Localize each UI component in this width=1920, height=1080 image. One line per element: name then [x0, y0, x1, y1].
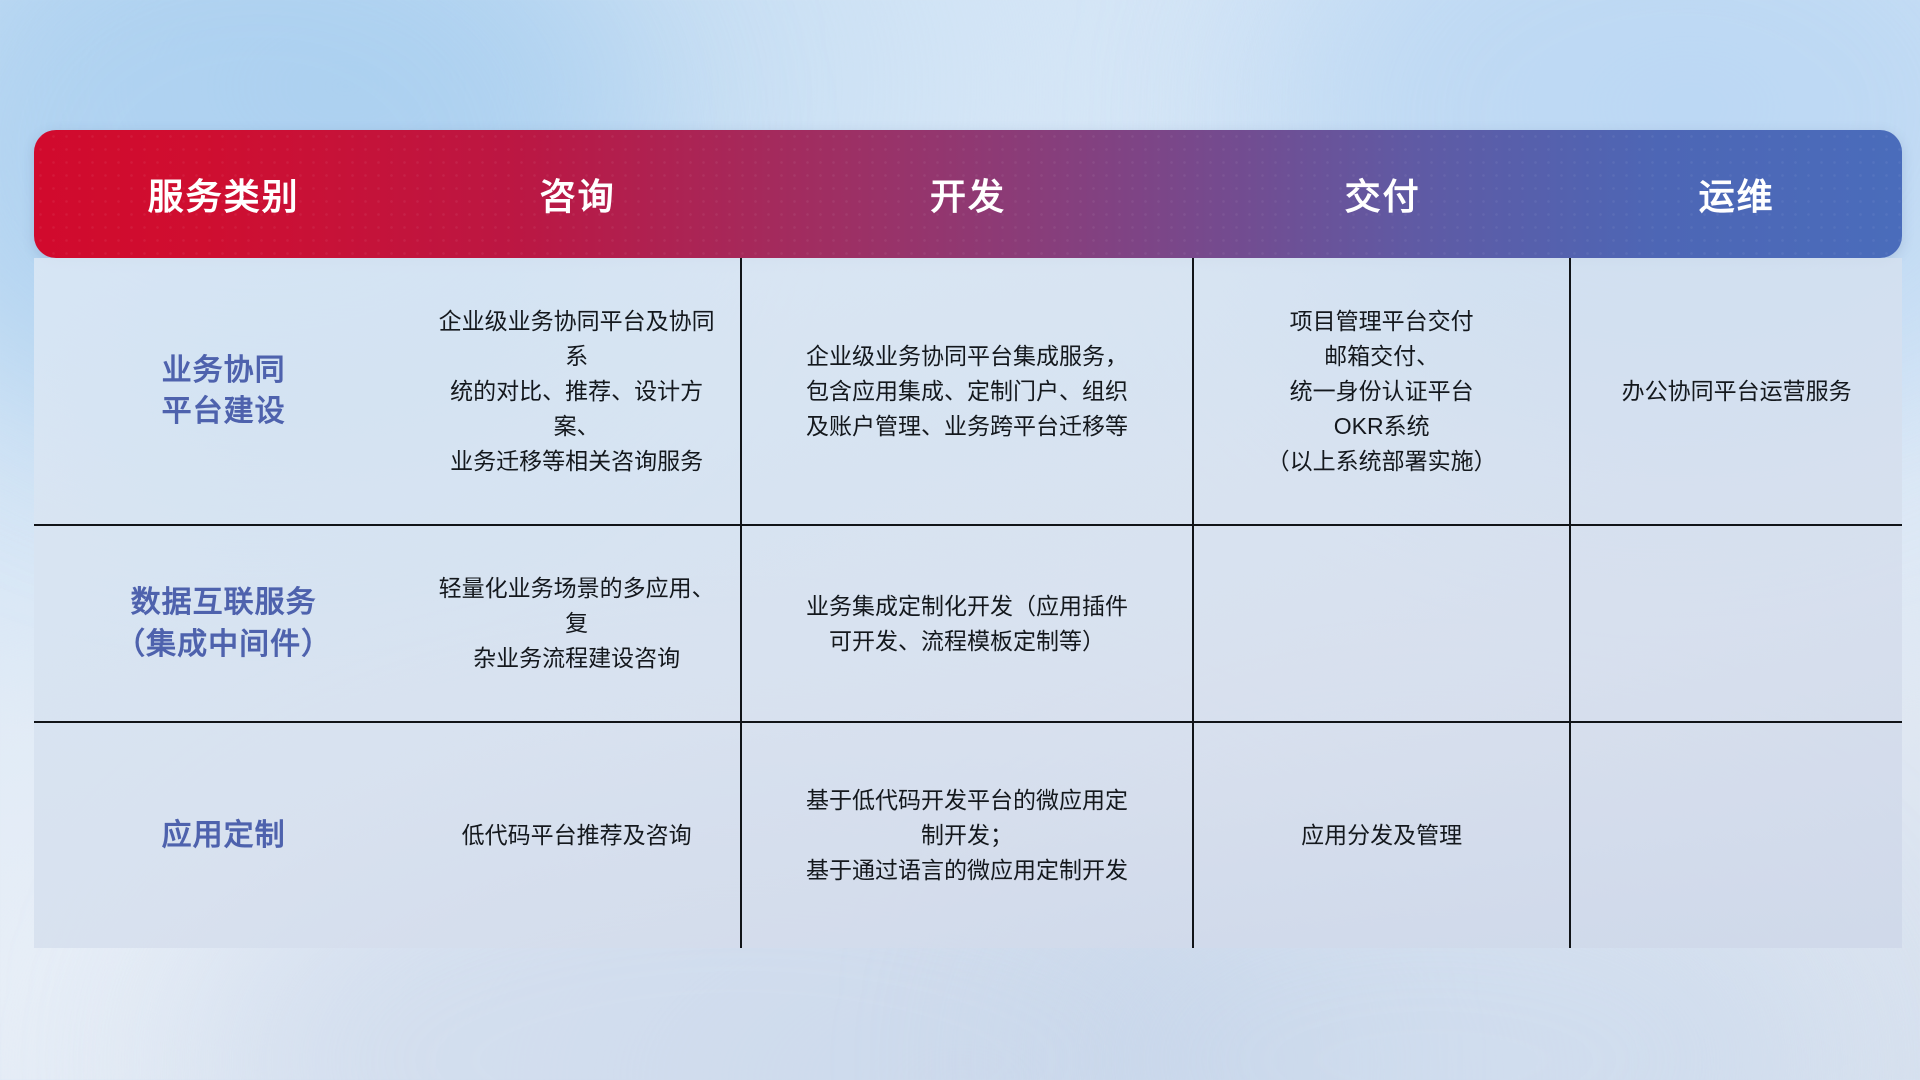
cell-text: 企业级业务协同平台及协同系 统的对比、推荐、设计方案、 业务迁移等相关咨询服务: [429, 304, 724, 479]
cell-delivery: [1194, 526, 1571, 721]
column-header-service-category: 服务类别: [34, 168, 413, 220]
cell-operations: [1571, 723, 1902, 948]
cell-operations: 办公协同平台运营服务: [1571, 258, 1902, 524]
row-label-cell: 业务协同 平台建设: [34, 258, 413, 524]
table-body: 业务协同 平台建设 企业级业务协同平台及协同系 统的对比、推荐、设计方案、 业务…: [34, 258, 1902, 948]
row-label-cell: 应用定制: [34, 723, 413, 948]
cell-text: 业务集成定制化开发（应用插件 可开发、流程模板定制等）: [806, 589, 1128, 659]
row-label-cell: 数据互联服务 （集成中间件）: [34, 526, 413, 721]
cell-delivery: 项目管理平台交付 邮箱交付、 统一身份认证平台 OKR系统 （以上系统部署实施）: [1194, 258, 1571, 524]
slide-canvas: 服务类别 咨询 开发 交付 运维 业务协同 平台建设 企业级业务协同平台及协同系…: [0, 0, 1920, 1080]
column-header-delivery: 交付: [1194, 168, 1571, 220]
cell-text: 低代码平台推荐及咨询: [462, 818, 692, 853]
cell-text: 项目管理平台交付 邮箱交付、 统一身份认证平台 OKR系统 （以上系统部署实施）: [1267, 304, 1497, 479]
column-header-operations: 运维: [1571, 168, 1902, 220]
cell-consulting: 企业级业务协同平台及协同系 统的对比、推荐、设计方案、 业务迁移等相关咨询服务: [413, 258, 742, 524]
cell-consulting: 轻量化业务场景的多应用、复 杂业务流程建设咨询: [413, 526, 742, 721]
row-label-text: 应用定制: [162, 815, 286, 856]
cell-development: 业务集成定制化开发（应用插件 可开发、流程模板定制等）: [742, 526, 1194, 721]
column-header-development: 开发: [742, 168, 1194, 220]
cell-development: 基于低代码开发平台的微应用定 制开发； 基于通过语言的微应用定制开发: [742, 723, 1194, 948]
cell-text: 应用分发及管理: [1301, 818, 1462, 853]
column-header-consulting: 咨询: [413, 168, 742, 220]
table-row: 数据互联服务 （集成中间件） 轻量化业务场景的多应用、复 杂业务流程建设咨询 业…: [34, 526, 1902, 723]
cell-text: 轻量化业务场景的多应用、复 杂业务流程建设咨询: [429, 571, 724, 676]
row-label-text: 业务协同 平台建设: [162, 350, 286, 433]
cell-text: 企业级业务协同平台集成服务， 包含应用集成、定制门户、组织 及账户管理、业务跨平…: [806, 339, 1128, 444]
cell-delivery: 应用分发及管理: [1194, 723, 1571, 948]
service-matrix-table: 服务类别 咨询 开发 交付 运维 业务协同 平台建设 企业级业务协同平台及协同系…: [34, 130, 1902, 950]
table-header-row: 服务类别 咨询 开发 交付 运维: [34, 130, 1902, 258]
table-row: 应用定制 低代码平台推荐及咨询 基于低代码开发平台的微应用定 制开发； 基于通过…: [34, 723, 1902, 948]
cell-text: 办公协同平台运营服务: [1622, 374, 1852, 409]
cell-consulting: 低代码平台推荐及咨询: [413, 723, 742, 948]
row-label-text: 数据互联服务 （集成中间件）: [115, 582, 332, 665]
cell-development: 企业级业务协同平台集成服务， 包含应用集成、定制门户、组织 及账户管理、业务跨平…: [742, 258, 1194, 524]
table-row: 业务协同 平台建设 企业级业务协同平台及协同系 统的对比、推荐、设计方案、 业务…: [34, 258, 1902, 526]
cell-text: 基于低代码开发平台的微应用定 制开发； 基于通过语言的微应用定制开发: [806, 783, 1128, 888]
cell-operations: [1571, 526, 1902, 721]
